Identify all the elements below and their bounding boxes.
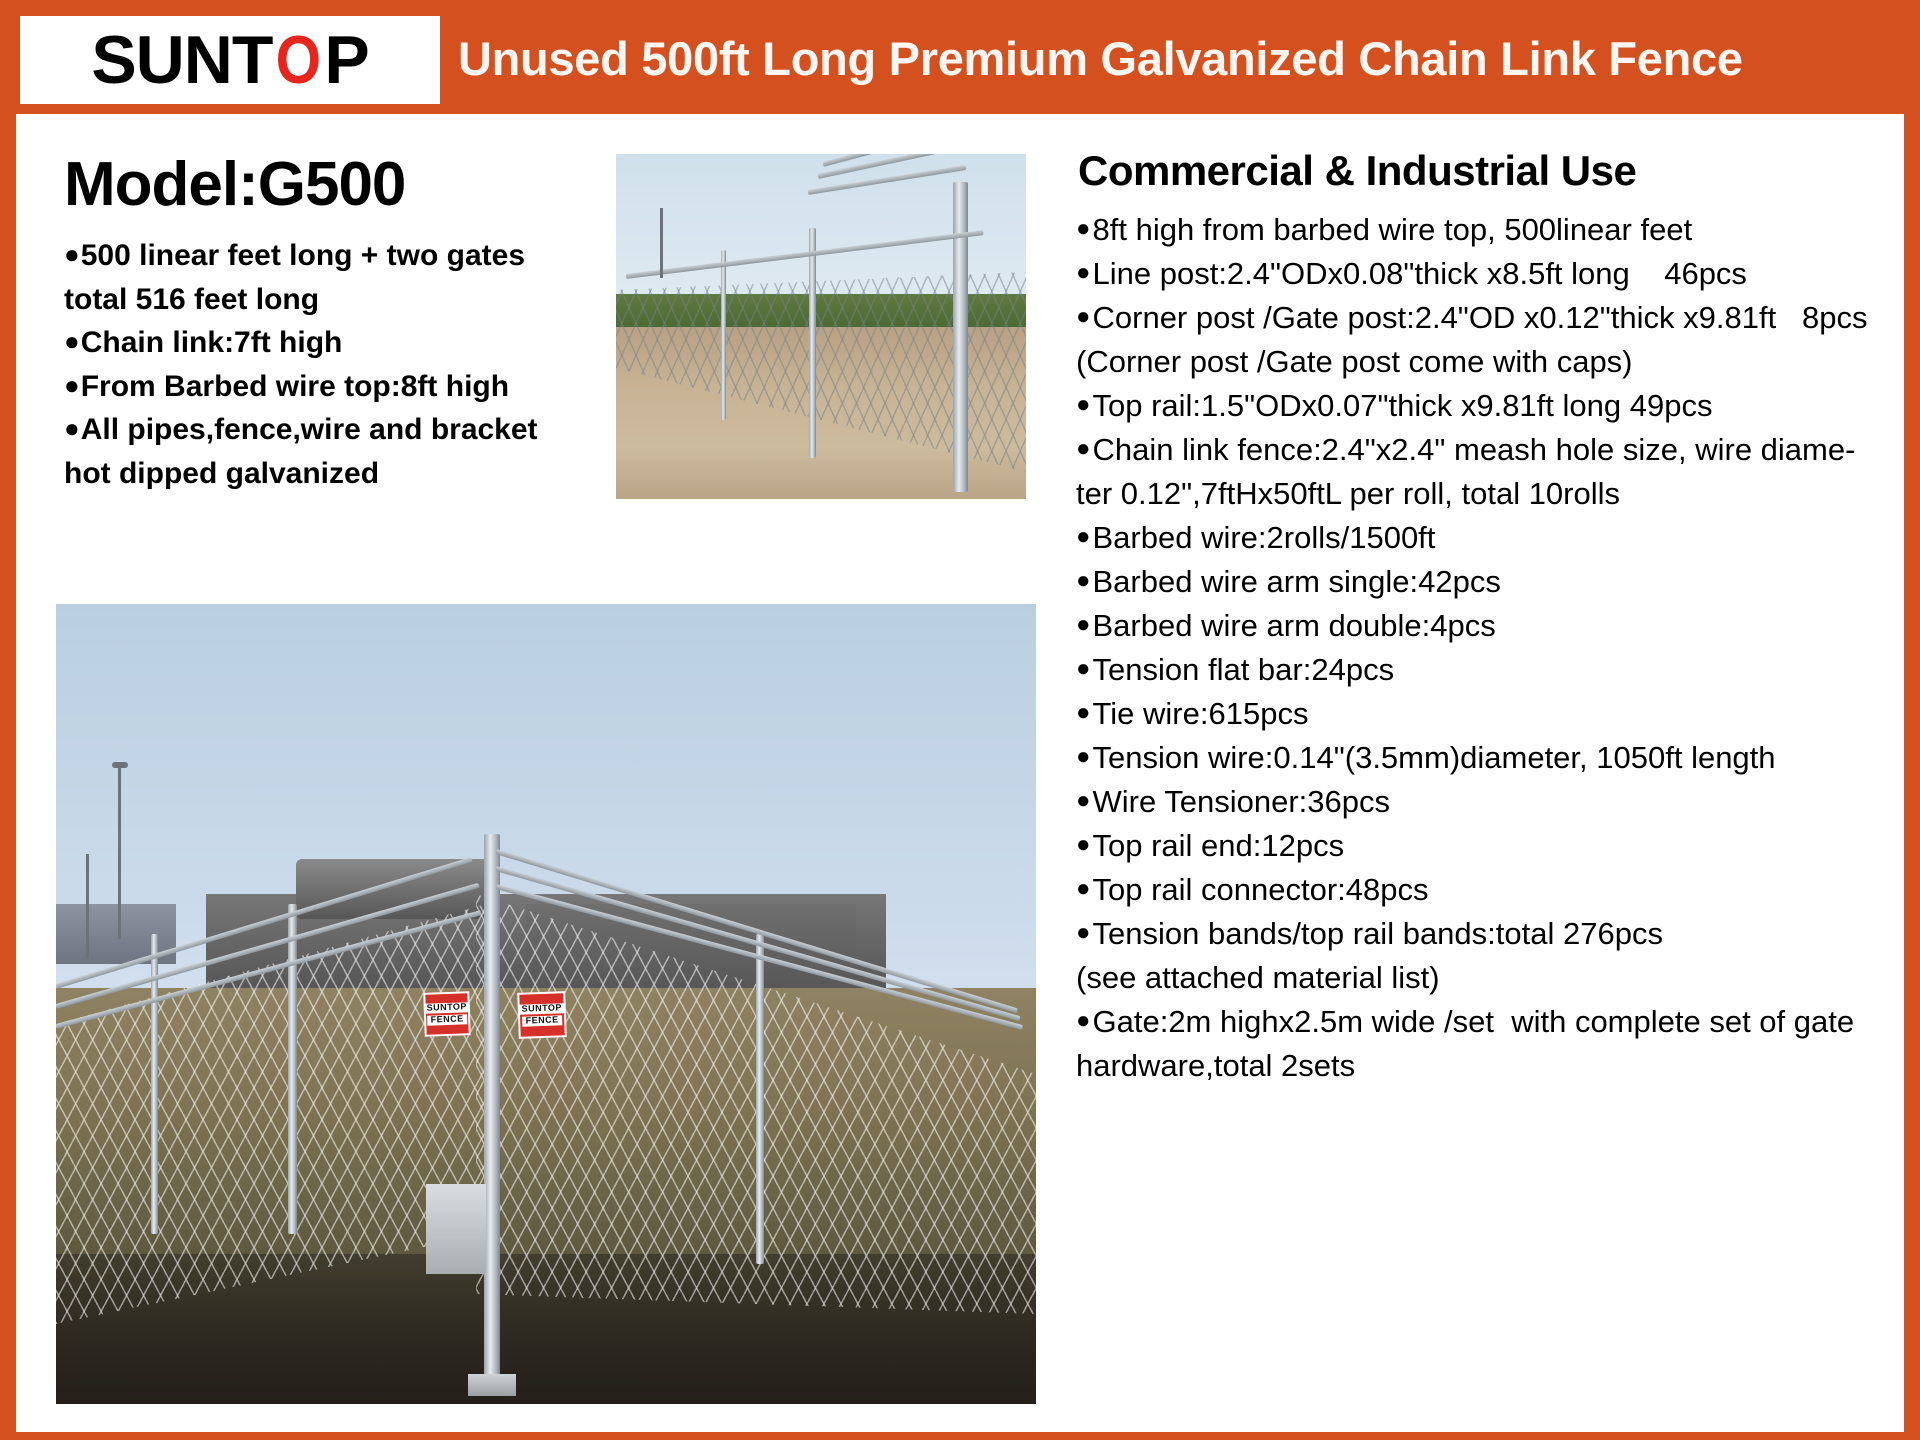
brand-logo: SUNTOP <box>20 16 440 104</box>
photo-fence-post <box>953 182 968 492</box>
list-item: ● 500 linear feet long + two gates <box>64 234 624 278</box>
bullet-icon: ● <box>64 365 80 405</box>
list-item: ● Tension bands/top rail bands:total 276… <box>1076 912 1868 956</box>
photo-fence-post <box>809 228 816 458</box>
list-item: ● Barbed wire arm single:42pcs <box>1076 560 1868 604</box>
fence-sign-line1: SUNTOP <box>423 1002 470 1014</box>
list-item: ● Barbed wire:2rolls/1500ft <box>1076 516 1868 560</box>
list-item-label: Line post:2.4"ODx0.08"thick x8.5ft long … <box>1093 252 1747 296</box>
logo-part-2: P <box>324 22 368 98</box>
bullet-icon: ● <box>1076 780 1091 822</box>
bullet-icon: ● <box>64 321 80 361</box>
list-item-label: Top rail connector:48pcs <box>1093 868 1429 912</box>
list-item-label: Tie wire:615pcs <box>1093 692 1309 736</box>
photo-fence-post <box>721 250 726 420</box>
list-item-label: Barbed wire:2rolls/1500ft <box>1093 516 1436 560</box>
list-item-label: Chain link fence:2.4"x2.4" meash hole si… <box>1093 428 1856 472</box>
bullet-icon: ● <box>1076 252 1091 294</box>
content-panel: Model:G500 ● 500 linear feet long + two … <box>16 114 1904 1432</box>
list-item-label: Barbed wire arm single:42pcs <box>1093 560 1501 604</box>
bullet-icon: ● <box>1076 296 1091 338</box>
list-item-label: Chain link:7ft high <box>81 321 343 365</box>
specification-list: ● 8ft high from barbed wire top, 500line… <box>1076 208 1868 1088</box>
logo-part-1: SUNT <box>91 22 272 98</box>
logo-letter-o: O <box>276 26 321 94</box>
list-item-label: All pipes,fence,wire and bracket <box>81 408 538 452</box>
list-item-label: Top rail:1.5"ODx0.07"thick x9.81ft long … <box>1093 384 1713 428</box>
fence-sign: SUNTOP FENCE <box>517 991 567 1039</box>
page-title: Unused 500ft Long Premium Galvanized Cha… <box>458 35 1743 86</box>
bullet-icon: ● <box>1076 868 1091 910</box>
fence-sign-line2: FENCE <box>523 1015 562 1026</box>
list-item: ● Corner post /Gate post:2.4"OD x0.12"th… <box>1076 296 1868 340</box>
list-item-label: From Barbed wire top:8ft high <box>81 365 509 409</box>
list-item-continuation: (see attached material list) <box>1076 956 1868 1000</box>
list-item-label: Gate:2m highx2.5m wide /set with complet… <box>1093 1000 1855 1044</box>
list-item: ● Top rail:1.5"ODx0.07"thick x9.81ft lon… <box>1076 384 1868 428</box>
bullet-icon: ● <box>1076 824 1091 866</box>
bullet-icon: ● <box>1076 1000 1091 1042</box>
list-item: ● Wire Tensioner:36pcs <box>1076 780 1868 824</box>
product-photo-top <box>616 154 1026 499</box>
list-item: ● Chain link fence:2.4"x2.4" meash hole … <box>1076 428 1868 472</box>
product-photo-main: SUNTOP FENCE SUNTOP FENCE <box>56 604 1036 1404</box>
list-item: ● Top rail connector:48pcs <box>1076 868 1868 912</box>
page-header: SUNTOP Unused 500ft Long Premium Galvani… <box>16 14 1904 106</box>
list-item-label: Barbed wire arm double:4pcs <box>1093 604 1496 648</box>
bullet-icon: ● <box>1076 208 1091 250</box>
list-item: ● Gate:2m highx2.5m wide /set with compl… <box>1076 1000 1868 1044</box>
bullet-icon: ● <box>1076 428 1091 470</box>
bullet-icon: ● <box>1076 604 1091 646</box>
list-item-label: Tension wire:0.14"(3.5mm)diameter, 1050f… <box>1093 736 1776 780</box>
list-item-label: Top rail end:12pcs <box>1093 824 1345 868</box>
list-item: ● Chain link:7ft high <box>64 321 624 365</box>
bullet-icon: ● <box>1076 384 1091 426</box>
list-item-label: Corner post /Gate post:2.4"OD x0.12"thic… <box>1093 296 1868 340</box>
list-item-continuation: ter 0.12",7ftHx50ftL per roll, total 10r… <box>1076 472 1868 516</box>
right-column: Commercial & Industrial Use ● 8ft high f… <box>1046 114 1904 1432</box>
fence-sign-line2: FENCE <box>428 1014 467 1025</box>
list-item-label: 500 linear feet long + two gates <box>81 234 525 278</box>
list-item-continuation: (Corner post /Gate post come with caps) <box>1076 340 1868 384</box>
list-item-label: Tension flat bar:24pcs <box>1093 648 1395 692</box>
list-item-label: 8ft high from barbed wire top, 500linear… <box>1093 208 1693 252</box>
photo-equipment-box <box>426 1184 486 1274</box>
bullet-icon: ● <box>64 408 80 448</box>
list-item: ● Tension wire:0.14"(3.5mm)diameter, 105… <box>1076 736 1868 780</box>
bullet-icon: ● <box>64 234 80 274</box>
bullet-icon: ● <box>1076 912 1091 954</box>
list-item: ● 8ft high from barbed wire top, 500line… <box>1076 208 1868 252</box>
photo-line-post <box>756 934 764 1264</box>
photo-post-footing <box>468 1374 516 1396</box>
bullet-icon: ● <box>1076 736 1091 778</box>
list-item: ● From Barbed wire top:8ft high <box>64 365 624 409</box>
list-item-label: Wire Tensioner:36pcs <box>1093 780 1391 824</box>
bullet-icon: ● <box>1076 516 1091 558</box>
left-feature-list: ● 500 linear feet long + two gates total… <box>64 234 624 495</box>
fence-sign-line1: SUNTOP <box>518 1003 565 1015</box>
list-item: ● Tie wire:615pcs <box>1076 692 1868 736</box>
photo-corner-post <box>484 834 500 1394</box>
list-item: ● All pipes,fence,wire and bracket <box>64 408 624 452</box>
list-item: ● Barbed wire arm double:4pcs <box>1076 604 1868 648</box>
advertisement-page: SUNTOP Unused 500ft Long Premium Galvani… <box>0 0 1920 1440</box>
fence-sign: SUNTOP FENCE <box>423 991 471 1037</box>
left-column: Model:G500 ● 500 linear feet long + two … <box>16 114 1046 1432</box>
list-item-continuation: total 516 feet long <box>64 278 624 322</box>
list-item-continuation: hardware,total 2sets <box>1076 1044 1868 1088</box>
bullet-icon: ● <box>1076 560 1091 602</box>
list-item: ● Line post:2.4"ODx0.08"thick x8.5ft lon… <box>1076 252 1868 296</box>
list-item-continuation: hot dipped galvanized <box>64 452 624 496</box>
brand-logo-text: SUNTOP <box>91 26 368 94</box>
specs-heading: Commercial & Industrial Use <box>1078 150 1868 192</box>
bullet-icon: ● <box>1076 648 1091 690</box>
photo-line-post <box>288 904 297 1234</box>
bullet-icon: ● <box>1076 692 1091 734</box>
list-item: ● Tension flat bar:24pcs <box>1076 648 1868 692</box>
list-item-label: Tension bands/top rail bands:total 276pc… <box>1093 912 1663 956</box>
list-item: ● Top rail end:12pcs <box>1076 824 1868 868</box>
